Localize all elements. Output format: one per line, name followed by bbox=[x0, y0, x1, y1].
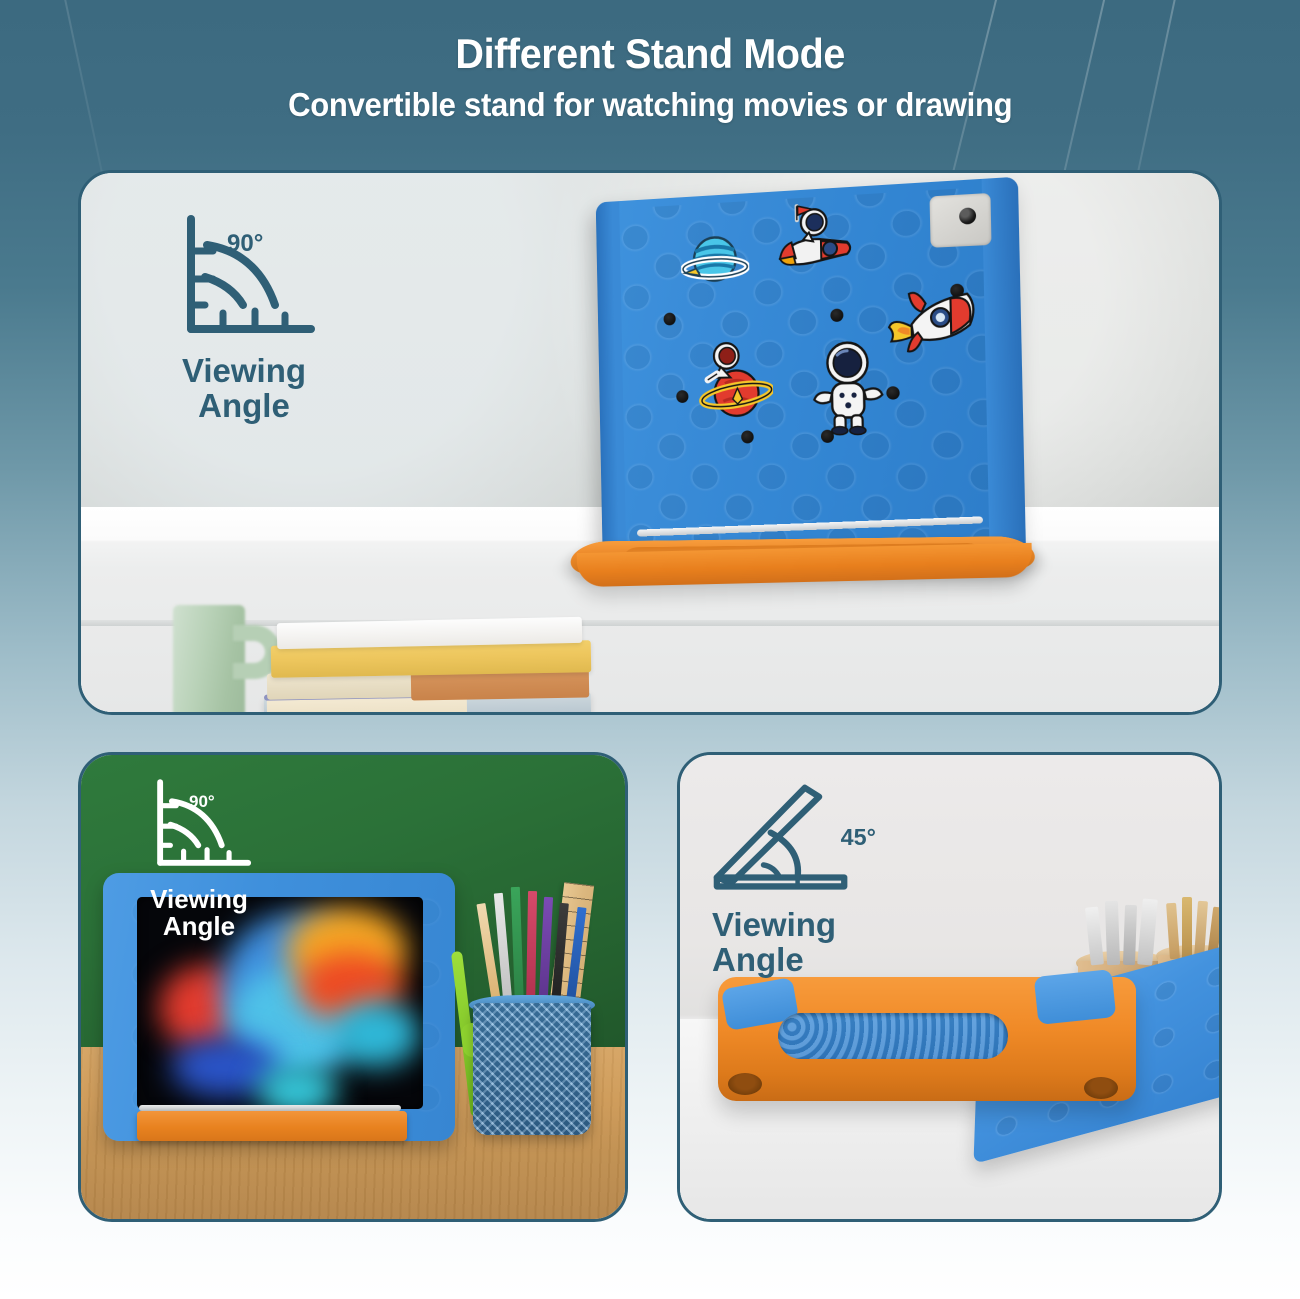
reclined-stand-mode-panel: 45° Viewing Angle bbox=[677, 752, 1222, 1222]
wallpaper-blob-cyan2 bbox=[257, 1065, 337, 1109]
astronaut-rocket-sticker bbox=[773, 197, 860, 280]
saturn-planet-sticker bbox=[698, 339, 774, 423]
viewing-angle-label-line2: Angle bbox=[712, 943, 884, 978]
viewing-angle-90-icon bbox=[169, 201, 319, 351]
viewing-angle-90-icon bbox=[143, 769, 255, 879]
viewing-angle-label-line1: Viewing bbox=[169, 354, 319, 389]
case-corner-tab bbox=[1034, 969, 1117, 1025]
wallpaper-blob-teal bbox=[333, 1001, 419, 1067]
scissors bbox=[1123, 905, 1137, 965]
colored-pencil bbox=[1182, 897, 1192, 959]
handle-end-hole bbox=[728, 1073, 762, 1095]
marker-pen bbox=[1105, 901, 1120, 965]
vent-hole bbox=[741, 430, 754, 443]
viewing-angle-90-badge: 90° Viewing Angle bbox=[169, 201, 319, 423]
tablet-case-upright bbox=[596, 177, 1027, 565]
page-header: Different Stand Mode Convertible stand f… bbox=[0, 0, 1300, 160]
astronaut-sticker bbox=[807, 338, 889, 436]
orange-stand-bar bbox=[137, 1111, 407, 1141]
infographic-page: Different Stand Mode Convertible stand f… bbox=[0, 0, 1300, 1299]
drawing-scene: 90° Viewing Angle bbox=[81, 755, 625, 1219]
viewing-angle-45-badge: 45° Viewing Angle bbox=[704, 777, 884, 977]
rocket-sticker bbox=[886, 283, 983, 362]
viewing-angle-label-line1: Viewing bbox=[712, 908, 884, 943]
viewing-angle-90-badge: 90° Viewing Angle bbox=[143, 769, 255, 941]
planet-sticker bbox=[680, 231, 749, 295]
upright-stand-mode-panel: 90° Viewing Angle bbox=[78, 170, 1222, 715]
page-subtitle: Convertible stand for watching movies or… bbox=[288, 86, 1012, 124]
vent-hole bbox=[676, 390, 688, 403]
angle-value-90: 90° bbox=[227, 230, 263, 258]
page-title: Different Stand Mode bbox=[455, 30, 844, 78]
drawing-stand-mode-panel: 90° Viewing Angle bbox=[78, 752, 628, 1222]
handle-end-hole bbox=[1084, 1077, 1118, 1099]
upright-scene: 90° Viewing Angle bbox=[81, 173, 1219, 712]
viewing-angle-label-line2: Angle bbox=[169, 389, 319, 424]
viewing-angle-label-line2: Angle bbox=[143, 913, 255, 940]
viewing-angle-label-line1: Viewing bbox=[143, 886, 255, 913]
viewing-angle-45-icon: 45° bbox=[704, 777, 884, 899]
angle-value-90: 90° bbox=[189, 792, 215, 812]
angle-value-45: 45° bbox=[841, 824, 876, 850]
mesh-pencil-cup bbox=[473, 1003, 591, 1135]
handle-grip-slot bbox=[778, 1013, 1008, 1059]
reclined-scene: 45° Viewing Angle bbox=[680, 755, 1219, 1219]
